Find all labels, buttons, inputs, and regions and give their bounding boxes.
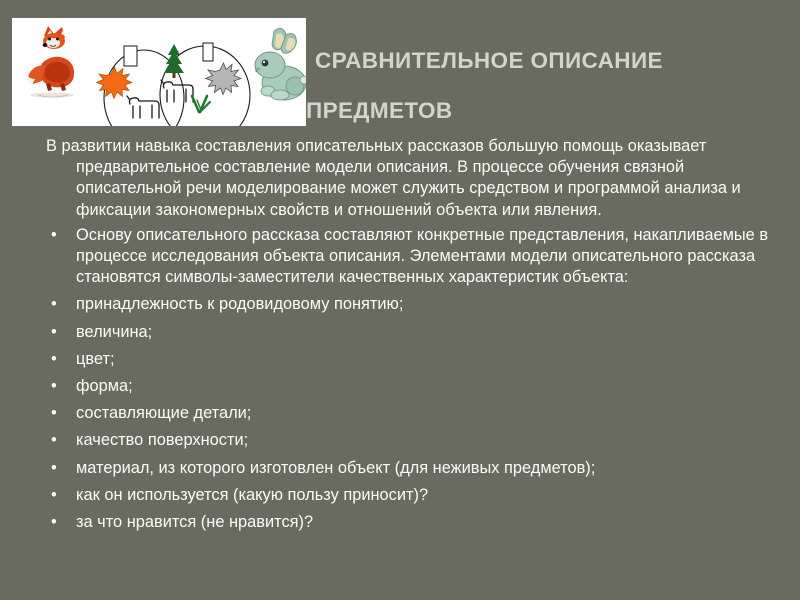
list-item-label: цвет; [76, 350, 115, 368]
list-item: • форма; [38, 373, 786, 400]
list-item-label: качество поверхности; [76, 431, 248, 449]
list-item: • цвет; [38, 346, 786, 373]
list-item-label: принадлежность к родовидовому понятию; [76, 295, 403, 313]
green-grass-symbol [192, 96, 210, 112]
list-item: • как он используется (какую пользу прин… [38, 482, 786, 509]
characteristics-list: • принадлежность к родовидовому понятию;… [38, 291, 786, 536]
intro-paragraph: В развитии навыка составления описательн… [38, 136, 786, 221]
orange-sun-symbol [97, 67, 133, 99]
list-item: • величина; [38, 319, 786, 346]
slide-title: СРАВНИТЕЛЬНОЕ ОПИСАНИЕ ПРЕДМЕТОВ [306, 36, 786, 136]
rectangle-symbol-right [203, 43, 213, 61]
bullet-icon: • [51, 225, 57, 246]
slide-body: В развитии навыка составления описательн… [38, 136, 786, 536]
bullet-icon: • [51, 509, 57, 536]
rectangle-symbol [124, 46, 137, 66]
list-item: • составляющие детали; [38, 400, 786, 427]
illustration-image [12, 18, 306, 126]
list-item: • принадлежность к родовидовому понятию; [38, 291, 786, 318]
animal-silhouette-symbol-overlap [161, 80, 193, 102]
rabbit-illustration [255, 28, 306, 100]
right-circle-symbols [192, 43, 241, 112]
fir-tree-symbol [164, 44, 184, 78]
bullet-icon: • [51, 319, 57, 346]
slide-title-line-1: СРАВНИТЕЛЬНОЕ ОПИСАНИЕ [306, 36, 786, 86]
list-item-label: составляющие детали; [76, 404, 251, 422]
list-item-label: величина; [76, 323, 152, 341]
list-item-label: материал, из которого изготовлен объект … [76, 459, 595, 477]
animal-silhouette-symbol-left [127, 96, 159, 118]
bullet-icon: • [51, 346, 57, 373]
fox-illustration [28, 26, 75, 98]
list-item: • качество поверхности; [38, 427, 786, 454]
list-item-label: как он используется (какую пользу принос… [76, 486, 428, 504]
bulleted-paragraph: • Основу описательного рассказа составля… [38, 225, 786, 289]
list-item-label: форма; [76, 377, 133, 395]
bullet-icon: • [51, 427, 57, 454]
bullet-icon: • [51, 291, 57, 318]
venn-diagram-svg [12, 18, 306, 126]
grey-star-symbol [206, 63, 242, 95]
bulleted-paragraph-text: Основу описательного рассказа составляют… [76, 226, 768, 286]
bullet-icon: • [51, 482, 57, 509]
left-circle-symbols [97, 46, 160, 118]
slide-title-line-2: ПРЕДМЕТОВ [306, 86, 786, 136]
bullet-icon: • [51, 400, 57, 427]
list-item: • материал, из которого изготовлен объек… [38, 455, 786, 482]
bullet-icon: • [51, 455, 57, 482]
bullet-icon: • [51, 373, 57, 400]
list-item: • за что нравится (не нравится)? [38, 509, 786, 536]
list-item-label: за что нравится (не нравится)? [76, 513, 313, 531]
overlap-symbols [161, 44, 193, 102]
